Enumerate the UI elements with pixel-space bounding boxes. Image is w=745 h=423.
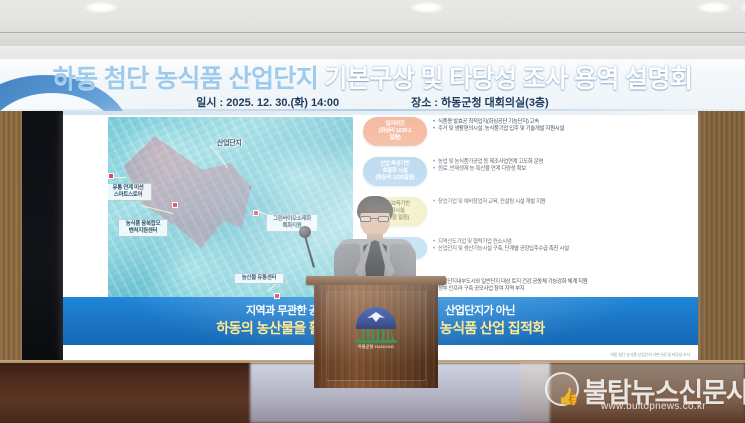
slide-pill-label: 산업 육성기반 효율화 시설 (화심리 1039일원) [363, 157, 427, 186]
map-label-4: 농산물 유통센터 [234, 273, 284, 284]
thumbs-up-icon: 👍 [545, 372, 579, 406]
map-chip-3 [253, 210, 259, 216]
banner-title-subject: 하동 첨단 농식품 산업단지 [53, 65, 318, 93]
map-label-2: 농식품 융복합모 벤처지원센터 [118, 219, 168, 237]
conclusion-line2-before: 하동의 농산물을 활 [216, 320, 321, 336]
slide-bullet-group: 산업단지내부도시와 일반단지 대상 토지 건강 공동체 기능강화 체계 지원 정… [427, 277, 693, 294]
conclusion-line2-after: 농식품 산업 집적화 [440, 320, 545, 336]
watermark-url: www.bultopnews.co.kr [601, 401, 706, 412]
leader-line-1 [112, 177, 126, 178]
microphone-head [299, 226, 311, 238]
downlight-3 [410, 2, 444, 13]
ceiling [0, 0, 745, 46]
wood-slat-wall-right [698, 111, 745, 363]
slide-bullet: 창업기업 및 예비창업자 교육, 컨설팅 시설 개발 지원 [433, 199, 693, 206]
upper-wall [0, 46, 745, 60]
hadong-county-emblem-icon: 하동군청·HADONG [351, 307, 401, 353]
eyeglasses-right-lens [378, 216, 389, 222]
slide-bullet-group: 농업 및 농식품가공업 등 제조사업연계 고도화 운영 원료, 반제생제 농·특… [427, 157, 693, 174]
map-label-1: 유통 연계 미션 스마트스토어 [108, 183, 152, 201]
wood-slat-wall-left [0, 111, 22, 363]
slide-pill-label: 입지여건 (화심리 1039-1 일원) [363, 117, 427, 146]
banner-title: 하동 첨단 농식품 산업단지 기본구상 및 타당성 조사 용역 설명회 [0, 63, 745, 95]
downlight-2 [740, 2, 745, 13]
slide-bullet-group: 창업기업 및 예비창업자 교육, 컨설팅 시설 개발 지원 [427, 197, 693, 206]
slide-bullet: 정부 인프라 구축 공모사업 참여 지역 부지 [433, 286, 693, 293]
map-chip-1 [108, 173, 114, 179]
slide-row: 입지여건 (화심리 1039-1 일원) 식품용 발효공 최적입지(화심공단 기… [363, 117, 693, 146]
slide-footnote: 하동 첨단 농식품 산업단지 기본구상 및 타당성 조사 [611, 352, 690, 358]
slide-bullet: 주거 및 생활편의시설, 농식품기업 입주 및 기술개발 지원시설 [433, 126, 693, 133]
slide-bullet-group: 지역선도기업 및 협력기업 컨소시엄 산업단지 및 생산기능시설 구축, 단계별… [427, 237, 693, 254]
news-watermark: 👍 불탑뉴스신문사 www.bultopnews.co.kr [543, 366, 743, 418]
slide-row: 산업 육성기반 효율화 시설 (화심리 1039일원) 농업 및 농식품가공업 … [363, 157, 693, 186]
eyeglasses-left-lens [360, 216, 371, 222]
podium: 하동군청·HADONG [310, 276, 442, 388]
emblem-caption: 하동군청·HADONG [351, 344, 401, 350]
downlight-1 [84, 2, 118, 13]
dark-wall-panel-left [22, 111, 63, 363]
podium-body: 하동군청·HADONG [314, 285, 438, 388]
ceiling-seam [0, 32, 745, 33]
map-chip-4 [274, 293, 280, 299]
slide-bullet: 산업단지 및 생산기능시설 구축, 단계별 공장입주수급 촉진 시설 [433, 246, 693, 253]
presentation-hall-photo: 하동 첨단 농식품 산업단지 기본구상 및 타당성 조사 용역 설명회 일시 :… [0, 0, 745, 423]
thumbs-up-glyph: 👍 [558, 387, 573, 407]
banner-title-event: 기본구상 및 타당성 조사 용역 설명회 [325, 65, 693, 93]
slide-bullet: 원료, 반제생제 농·특산물 연계 다양성 확보 [433, 166, 693, 173]
slide-bullet-group: 식품용 발효공 최적입지(화심공단 기능단지) 고속 주거 및 생활편의시설, … [427, 117, 693, 134]
eyeglasses-bridge [371, 218, 378, 219]
event-banner: 하동 첨단 농식품 산업단지 기본구상 및 타당성 조사 용역 설명회 일시 :… [0, 59, 745, 111]
emblem-base-line [355, 340, 397, 343]
map-label-zone: 산업단지 [215, 139, 244, 149]
leader-line-4 [267, 283, 276, 292]
map-chip-2 [172, 202, 178, 208]
podium-top-surface [306, 276, 446, 285]
downlight-4 [697, 2, 731, 13]
speaker-hairline [358, 202, 392, 213]
